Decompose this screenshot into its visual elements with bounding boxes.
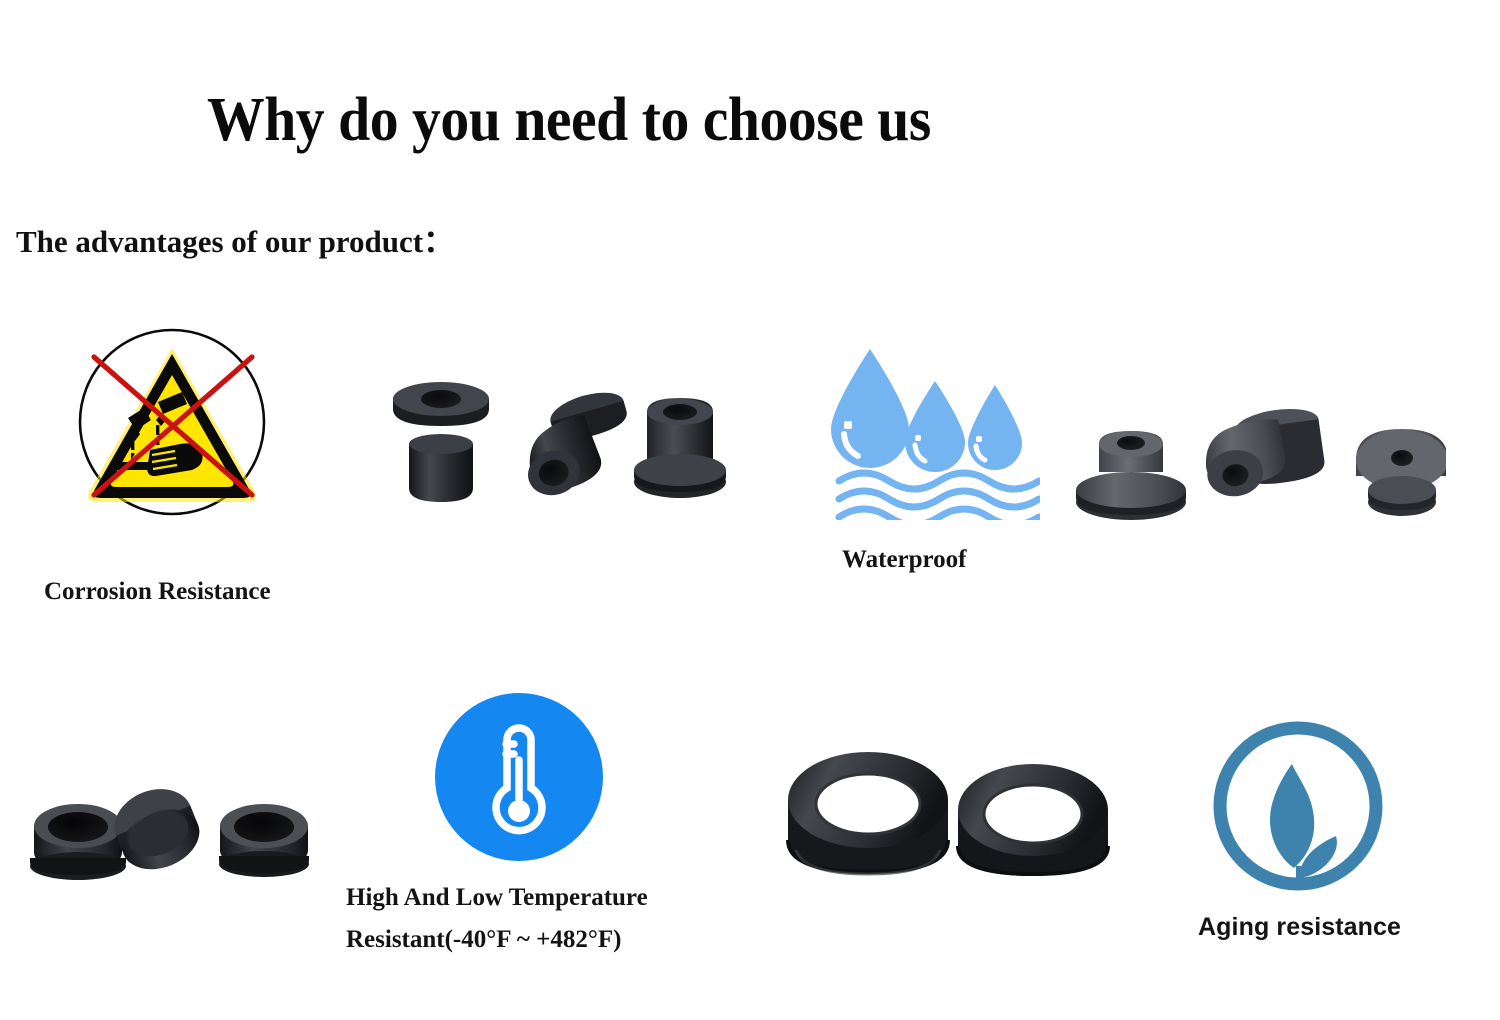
feature-label-waterproof: Waterproof bbox=[842, 542, 1040, 578]
page-title: Why do you need to choose us bbox=[207, 88, 931, 153]
feature-waterproof: Waterproof bbox=[825, 335, 1040, 578]
rubber-flanged-bushing-photo bbox=[372, 360, 732, 540]
rubber-gray-grommet-photo bbox=[1068, 398, 1446, 543]
feature-label-temperature-line2: Resistant(-40°F ~ +482°F) bbox=[346, 922, 648, 958]
feature-label-aging-resistance: Aging resistance bbox=[1198, 910, 1401, 946]
water-droplets-waves-icon bbox=[825, 335, 1040, 520]
leaf-in-circle-icon bbox=[1208, 716, 1388, 896]
feature-aging-resistance: Aging resistance bbox=[1208, 716, 1401, 946]
feature-label-temperature-line1: High And Low Temperature bbox=[346, 880, 648, 916]
product-photo-flanged-bushings bbox=[372, 360, 732, 540]
subtitle: The advantages of our product： bbox=[16, 225, 454, 259]
feature-corrosion-resistance: Corrosion Resistance bbox=[52, 322, 292, 610]
product-photo-black-rings bbox=[12, 768, 317, 898]
corrosive-hazard-crossed-out-icon bbox=[52, 322, 292, 552]
rubber-black-grommet-photo bbox=[12, 768, 317, 898]
rubber-seal-ring-photo bbox=[782, 748, 1112, 908]
feature-temperature-resistance: High And Low Temperature Resistant(-40°F… bbox=[434, 692, 648, 957]
feature-label-corrosion-resistance: Corrosion Resistance bbox=[44, 574, 292, 610]
product-photo-seal-rings bbox=[782, 748, 1112, 908]
product-photo-gray-grommets bbox=[1068, 398, 1446, 543]
thermometer-icon bbox=[434, 692, 604, 862]
